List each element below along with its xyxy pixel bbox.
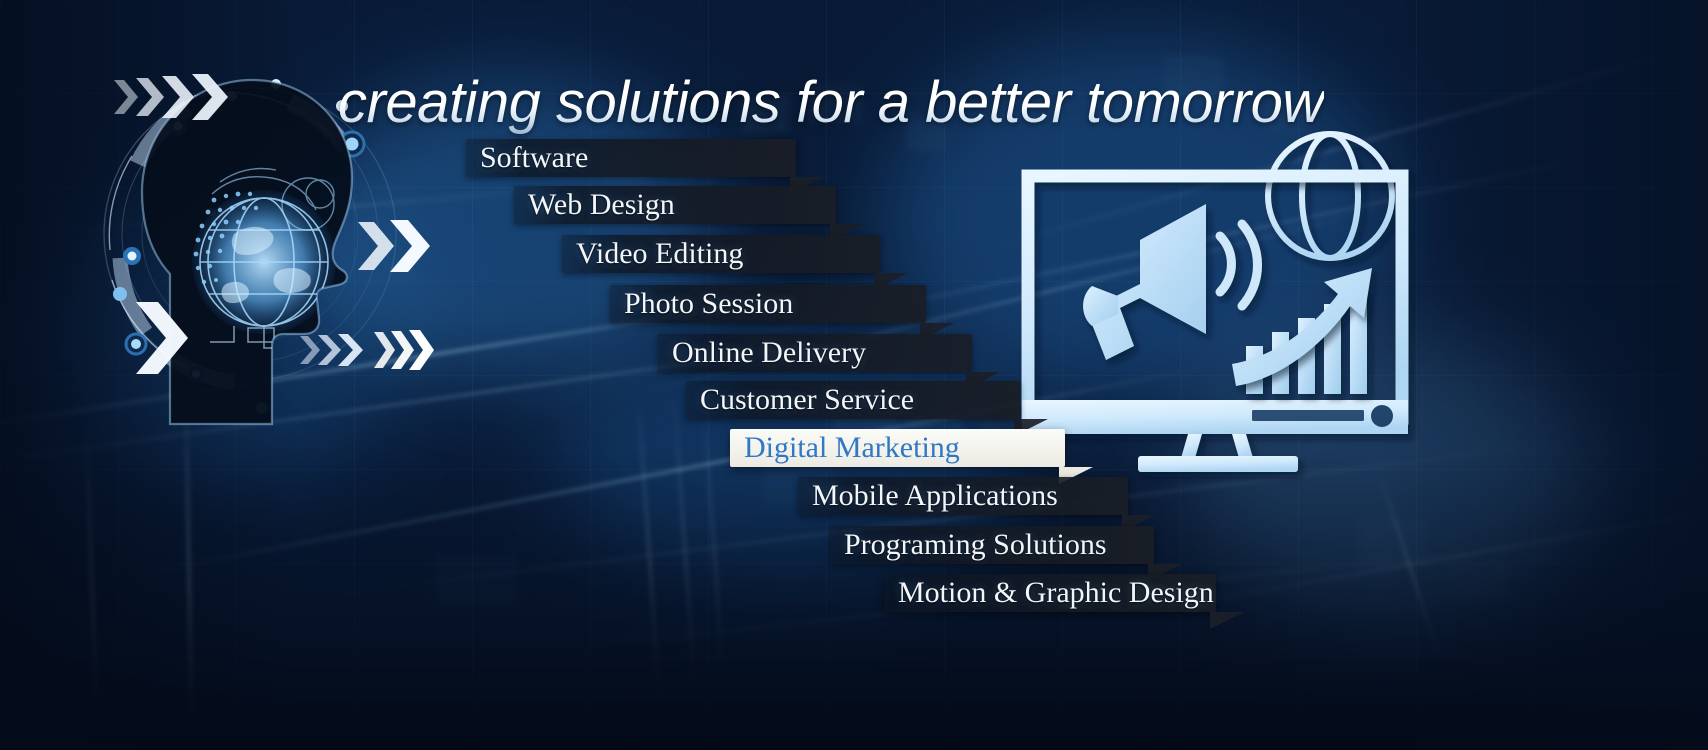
menu-item-customer-service[interactable]: Customer Service [686, 381, 1020, 419]
menu-item-label: Web Design [514, 186, 689, 224]
menu-item-video-editing[interactable]: Video Editing [562, 235, 880, 273]
menu-item-photo-session[interactable]: Photo Session [610, 285, 926, 323]
menu-item-software[interactable]: Software [466, 139, 796, 177]
menu-item-motion-graphic-design[interactable]: Motion & Graphic Design [884, 574, 1216, 612]
menu-item-label: Motion & Graphic Design [884, 574, 1228, 612]
menu-item-label: Online Delivery [658, 334, 880, 372]
menu-item-label: Software [466, 139, 602, 177]
menu-item-digital-marketing[interactable]: Digital Marketing [730, 429, 1065, 467]
menu-item-label: Programing Solutions [830, 526, 1121, 564]
menu-item-label: Photo Session [610, 285, 807, 323]
menu-item-label: Customer Service [686, 381, 928, 419]
menu-item-online-delivery[interactable]: Online Delivery [658, 334, 972, 372]
menu-item-label: Digital Marketing [730, 429, 974, 467]
banner-stage: creating solutions for a better tomorrow… [0, 0, 1708, 750]
menu-item-label: Video Editing [562, 235, 757, 273]
menu-item-label: Mobile Applications [798, 477, 1072, 515]
menu-item-mobile-applications[interactable]: Mobile Applications [798, 477, 1128, 515]
services-menu: SoftwareWeb DesignVideo EditingPhoto Ses… [0, 0, 1708, 750]
menu-item-tail [1210, 612, 1244, 629]
menu-item-web-design[interactable]: Web Design [514, 186, 836, 224]
menu-item-programing-solutions[interactable]: Programing Solutions [830, 526, 1154, 564]
